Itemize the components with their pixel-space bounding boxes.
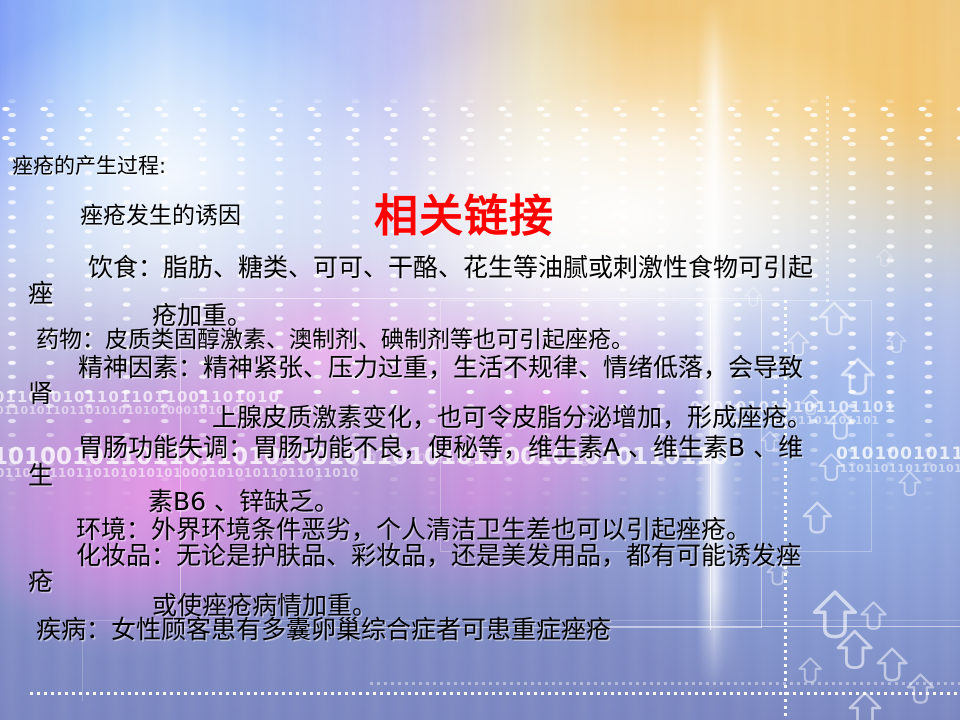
body-line-gi-wrap1: 生 <box>28 456 53 492</box>
body-line-gi: 胃肠功能失调：胃肠功能不良，便秘等，维生素A 、维生素B 、维 <box>78 428 803 464</box>
slide-content: 痤疮的产生过程: 痤疮发生的诱因 相关链接 饮食：脂肪、糖类、可可、干酪、花生等… <box>0 0 960 720</box>
body-line-diet-wrap1: 痤 <box>28 274 53 310</box>
subheading: 痤疮发生的诱因 <box>80 196 241 230</box>
body-line-mind: 精神因素：精神紧张、压力过重，生活不规律、情绪低落，会导致 <box>78 348 803 384</box>
slide-canvas: 0110101011011011001101010 01101011011010… <box>0 0 960 720</box>
body-line-disease: 疾病：女性顾客患有多囊卵巢综合症者可患重症痤疮 <box>36 610 611 646</box>
body-line-diet: 饮食：脂肪、糖类、可可、干酪、花生等油腻或刺激性食物可引起 <box>88 248 813 284</box>
body-line-cos-wrap1: 疮 <box>28 562 53 598</box>
related-links-title: 相关链接 <box>374 180 554 244</box>
body-line-mind-wrap1: 肾 <box>28 374 53 410</box>
body-line-cosmetic: 化妆品：无论是护肤品、彩妆品，还是美发用品，都有可能诱发痤 <box>76 536 801 572</box>
page-title: 痤疮的产生过程: <box>12 150 166 180</box>
